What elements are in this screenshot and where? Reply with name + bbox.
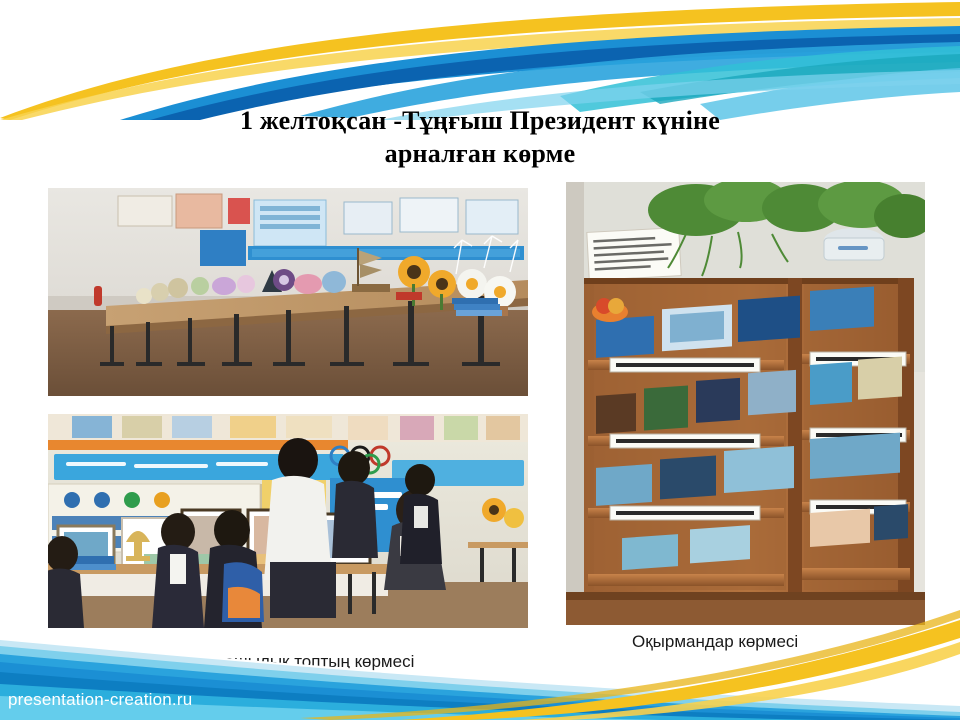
title-line-2: арналған көрме	[130, 137, 830, 170]
watermark-text: presentation-creation.ru	[8, 690, 192, 710]
title-line-1: 1 желтоқсан -Тұңғыш Президент күніне	[130, 104, 830, 137]
caption-readers-exhibition: Оқырмандар көрмесі	[632, 632, 798, 652]
photo-craft-exhibition	[48, 188, 528, 396]
photo-book-display-shelf	[566, 182, 925, 625]
photo-students-viewing	[48, 414, 528, 628]
slide-title: 1 желтоқсан -Тұңғыш Президент күніне арн…	[130, 104, 830, 171]
slide-canvas: 1 желтоқсан -Тұңғыш Президент күніне арн…	[0, 0, 960, 720]
caption-craft-exhibition: Шығармашылық топтың көрмесі	[160, 652, 414, 672]
top-ribbon-decoration	[0, 0, 960, 120]
